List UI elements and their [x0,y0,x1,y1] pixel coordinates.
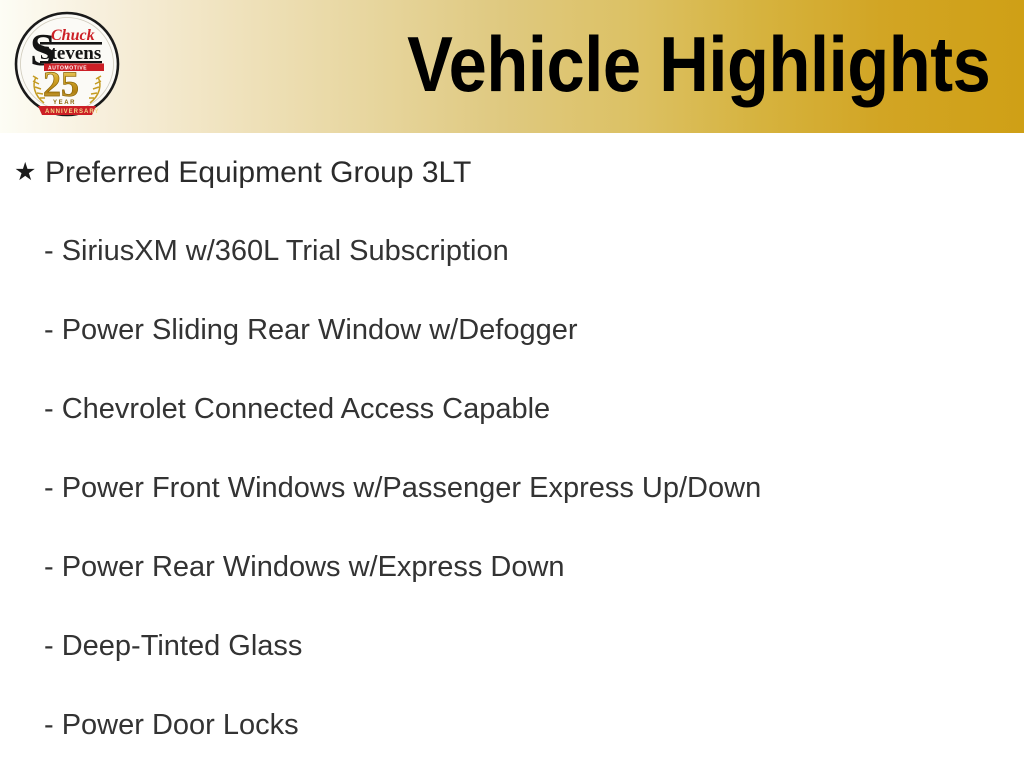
list-item: - Chevrolet Connected Access Capable [0,370,1024,449]
svg-text:YEAR: YEAR [53,100,76,106]
list-item: - Power Rear Windows w/Express Down [0,528,1024,607]
list-item: - Deep-Tinted Glass [0,607,1024,686]
list-item: - Power Sliding Rear Window w/Defogger [0,291,1024,370]
list-item: - Power Door Locks [0,686,1024,765]
star-bullet-icon: ★ [14,133,36,212]
list-item-label: - SiriusXM w/360L Trial Subscription [44,212,509,291]
list-item-label: - Power Rear Windows w/Express Down [44,528,565,607]
vehicle-highlights-list: ★ Preferred Equipment Group 3LT - Sirius… [0,133,1024,765]
dealer-logo: S Chuck Stevens AUTOMOTIVE 25 YEAR ANNIV… [14,9,120,119]
list-item-label: - Power Door Locks [44,686,299,765]
svg-text:Chuck: Chuck [51,27,95,44]
list-item-label: - Deep-Tinted Glass [44,607,302,686]
list-item-label: - Power Front Windows w/Passenger Expres… [44,449,761,528]
list-item-label: Preferred Equipment Group 3LT [45,133,471,212]
slide-header-band: Vehicle Highlights [0,0,1024,133]
list-item-label: - Chevrolet Connected Access Capable [44,370,550,449]
list-item: ★ Preferred Equipment Group 3LT [0,133,1024,212]
page-title: Vehicle Highlights [407,16,951,112]
list-item-label: - Power Sliding Rear Window w/Defogger [44,291,578,370]
svg-text:25: 25 [43,64,79,104]
list-item: - SiriusXM w/360L Trial Subscription [0,212,1024,291]
slide-content: ★ Preferred Equipment Group 3LT - Sirius… [0,133,1024,768]
list-item: - Power Front Windows w/Passenger Expres… [0,449,1024,528]
svg-text:Stevens: Stevens [40,43,101,64]
svg-text:ANNIVERSARY: ANNIVERSARY [45,109,99,115]
